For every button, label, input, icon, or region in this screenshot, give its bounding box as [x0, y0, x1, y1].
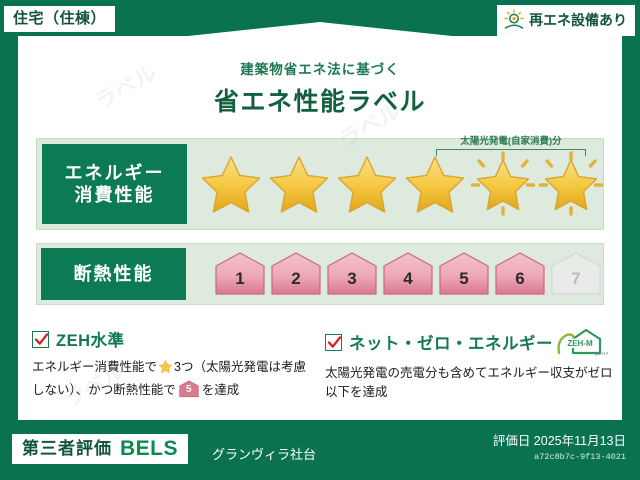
- star-icon: [402, 151, 468, 217]
- property-name: グランヴィラ社台: [212, 444, 316, 463]
- insulation-label: 断熱性能: [74, 263, 154, 286]
- star-icon: [158, 359, 173, 380]
- insulation-level-badge: 5: [438, 251, 490, 297]
- housing-type-label: 住宅（住棟）: [13, 10, 106, 27]
- insulation-level-badge: 1: [214, 251, 266, 297]
- insulation-level-number: 5: [438, 270, 490, 287]
- zeh-title: ZEH水準: [56, 327, 125, 351]
- net-zero-energy-section: ネット・ゼロ・エネルギー ZEH-M (ZEH-M) 太陽光発電の売電分も含めて…: [325, 327, 617, 403]
- star-icon: [198, 151, 264, 217]
- energy-label-line2: 消費性能: [75, 184, 155, 207]
- title-subtitle: 建築物省エネ法に基づく: [0, 58, 640, 78]
- net-zero-description: 太陽光発電の売電分も含めてエネルギー収支がゼロ以下を達成: [325, 364, 617, 403]
- star-icon: [266, 151, 332, 217]
- insulation-level-badge: 4: [382, 251, 434, 297]
- insulation-level-inline-number: 5: [178, 385, 200, 395]
- insulation-performance-label-box: 断熱性能: [41, 248, 186, 300]
- star-icon-solar: [538, 151, 604, 217]
- insulation-level-number: 3: [326, 270, 378, 287]
- energy-performance-label-box: エネルギー 消費性能: [42, 144, 187, 224]
- net-zero-title: ネット・ゼロ・エネルギー: [349, 330, 553, 354]
- housing-type-badge: 住宅（住棟）: [4, 6, 115, 32]
- zeh-desc-part3: を達成: [202, 383, 240, 397]
- insulation-level-badge: 3: [326, 251, 378, 297]
- energy-label-line1: エネルギー: [65, 162, 165, 185]
- insulation-levels-area: 1 2 3 4 5: [190, 244, 603, 304]
- renewable-equipment-badge: 再エネ設備あり: [497, 5, 635, 36]
- check-icon: [32, 331, 49, 348]
- insulation-level-row: 1 2 3 4 5: [190, 251, 602, 297]
- bels-jp-label: 第三者評価: [22, 440, 112, 457]
- insulation-level-badge-inactive: 7: [550, 251, 602, 297]
- energy-performance-panel: エネルギー 消費性能 太陽光発電(自家消費)分: [36, 138, 604, 230]
- evaluation-info: 評価日 2025年11月13日 a72c8b7c-9f13-4021: [493, 434, 626, 462]
- zeh-standard-section: ZEH水準 エネルギー消費性能で3つ（太陽光発電は考慮しない）、かつ断熱性能で5…: [32, 327, 314, 401]
- insulation-level-number: 2: [270, 270, 322, 287]
- energy-performance-label: ラベル ラベル ラベル 住宅（住棟） 再エネ設備あり 建築物省エネ法に基: [0, 0, 640, 480]
- zeh-description: エネルギー消費性能で3つ（太陽光発電は考慮しない）、かつ断熱性能で5を達成: [32, 358, 314, 401]
- svg-text:(ZEH-M): (ZEH-M): [594, 351, 608, 356]
- label-footer: 第三者評価 BELS グランヴィラ社台 評価日 2025年11月13日 a72c…: [0, 422, 640, 480]
- evaluation-id: a72c8b7c-9f13-4021: [493, 452, 626, 462]
- zeh-m-logo-icon: ZEH-M (ZEH-M): [556, 327, 608, 357]
- solar-portion-text: 太陽光発電(自家消費)分: [436, 137, 586, 147]
- insulation-level-number: 7: [550, 270, 602, 287]
- solar-bracket: [436, 149, 586, 156]
- svg-text:ZEH-M: ZEH-M: [567, 339, 593, 348]
- star-rating: [192, 151, 604, 217]
- check-icon: [325, 334, 342, 351]
- page-title: 省エネ性能ラベル: [0, 82, 640, 118]
- insulation-performance-panel: 断熱性能 1 2 3 4: [36, 243, 604, 305]
- net-zero-heading: ネット・ゼロ・エネルギー ZEH-M (ZEH-M): [325, 327, 617, 357]
- bels-badge: 第三者評価 BELS: [12, 434, 188, 464]
- bels-en-label: BELS: [120, 438, 178, 459]
- star-icon-solar: [470, 151, 536, 217]
- title-block: 建築物省エネ法に基づく 省エネ性能ラベル: [0, 58, 640, 118]
- zeh-desc-part1: エネルギー消費性能で: [32, 360, 157, 374]
- energy-stars-area: 太陽光発電(自家消費)分: [192, 139, 604, 229]
- insulation-level-number: 6: [494, 270, 546, 287]
- insulation-level-number: 1: [214, 270, 266, 287]
- solar-portion-note: 太陽光発電(自家消費)分: [436, 137, 586, 156]
- sun-icon: [503, 9, 525, 31]
- insulation-level-badge: 6: [494, 251, 546, 297]
- insulation-level-badge: 2: [270, 251, 322, 297]
- zeh-heading: ZEH水準: [32, 327, 314, 351]
- insulation-level-number: 4: [382, 270, 434, 287]
- star-icon: [334, 151, 400, 217]
- renewable-equipment-label: 再エネ設備あり: [529, 13, 627, 27]
- insulation-level-inline-badge: 5: [178, 380, 200, 398]
- evaluation-date: 評価日 2025年11月13日: [493, 434, 626, 449]
